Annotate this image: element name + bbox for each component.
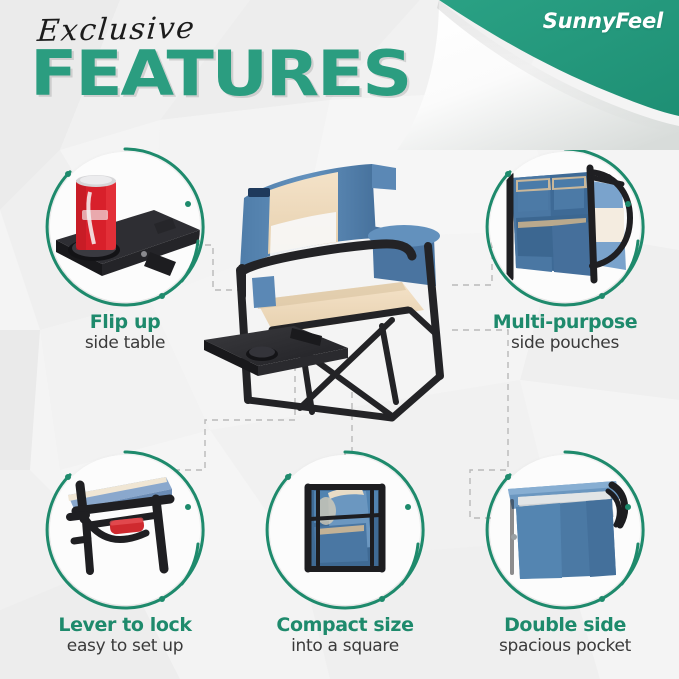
feature-caption: Flip up side table <box>30 313 220 353</box>
feature-image-double-pocket <box>490 455 640 605</box>
brand-logo: SunnyFeel <box>543 9 663 33</box>
feature-title: Lever to lock <box>30 616 220 636</box>
title-main-line: FEATURES <box>30 47 410 102</box>
feature-image-multi-purpose <box>490 152 640 302</box>
feature-title: Multi-purpose <box>470 313 660 333</box>
feature-caption: Multi-purpose side pouches <box>470 313 660 353</box>
folded-chair <box>306 487 384 569</box>
feature-subtitle: into a square <box>250 637 440 657</box>
feature-image-lever <box>50 455 200 605</box>
feature-caption: Double side spacious pocket <box>470 616 660 656</box>
feature-title: Compact size <box>250 616 440 636</box>
feature-image-flip-up <box>50 152 200 302</box>
chair-seat <box>252 276 424 334</box>
product-image-chair <box>196 150 496 450</box>
feature-subtitle: easy to set up <box>30 637 220 657</box>
feature-double-side-spacious-pocket[interactable]: Double side spacious pocket <box>490 455 660 656</box>
feature-subtitle: side table <box>30 334 220 354</box>
feature-lever-to-lock[interactable]: Lever to lock easy to set up <box>50 455 220 656</box>
feature-subtitle: side pouches <box>470 334 660 354</box>
feature-compact-size[interactable]: Compact size into a square <box>270 455 440 656</box>
feature-caption: Compact size into a square <box>250 616 440 656</box>
page-title: Exclusive FEATURES <box>30 14 369 102</box>
soda-can <box>76 175 116 250</box>
brand-logo-text: SunnyFeel <box>543 9 663 33</box>
feature-caption: Lever to lock easy to set up <box>30 616 220 656</box>
feature-subtitle: spacious pocket <box>470 637 660 657</box>
feature-title: Double side <box>470 616 660 636</box>
feature-multi-purpose-side-pouches[interactable]: Multi-purpose side pouches <box>490 152 660 353</box>
feature-title: Flip up <box>30 313 220 333</box>
feature-flip-up-side-table[interactable]: Flip up side table <box>50 152 220 353</box>
feature-image-compact <box>270 455 420 605</box>
